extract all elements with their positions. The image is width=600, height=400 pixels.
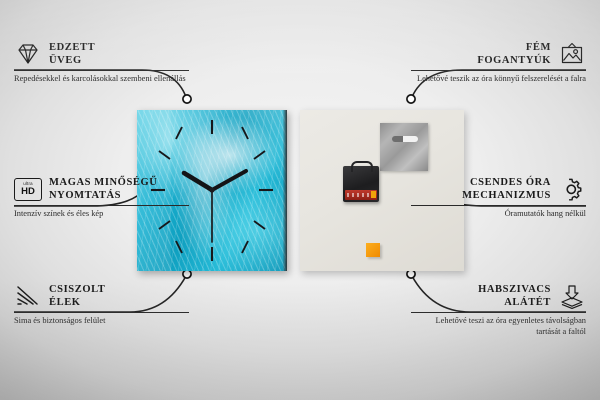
- feature-title-line2: ÜVEG: [49, 54, 95, 67]
- feature-divider: [411, 205, 586, 206]
- feature-title-line2: FOGANTYÚK: [477, 54, 551, 67]
- feature-divider: [14, 205, 189, 206]
- battery-terminal: [371, 191, 376, 198]
- connector-dot-polished-edges: [183, 270, 191, 278]
- feature-title-line1: MAGAS MINŐSÉGŰ: [49, 176, 157, 189]
- feature-divider: [14, 312, 189, 313]
- feature-foam-backing: HABSZIVACS ALÁTÉT Lehetővé teszi az óra …: [411, 283, 586, 337]
- connector-dot-foam: [407, 270, 415, 278]
- feature-description: Intenzív színek és éles kép: [14, 209, 189, 220]
- feature-divider: [411, 312, 586, 313]
- feature-title-line2: MECHANIZMUS: [462, 189, 551, 202]
- feature-title: HABSZIVACS ALÁTÉT: [478, 283, 551, 309]
- foam-pad-icon: [558, 284, 586, 309]
- feature-head: HABSZIVACS ALÁTÉT: [411, 283, 586, 309]
- feature-head: EDZETT ÜVEG: [14, 41, 189, 67]
- feature-title: CSENDES ÓRA MECHANIZMUS: [462, 176, 551, 202]
- feature-head: CSENDES ÓRA MECHANIZMUS: [411, 176, 586, 202]
- feature-title-line1: CSENDES ÓRA: [462, 176, 551, 189]
- feature-description: Sima és biztonságos felület: [14, 316, 189, 327]
- hanger-slot: [392, 136, 418, 142]
- polished-edges-icon: [14, 284, 42, 308]
- gear-icon: [558, 177, 586, 202]
- diamond-icon: [14, 42, 42, 66]
- feature-description: Óramutatók hang nélkül: [411, 209, 586, 220]
- feature-title: MAGAS MINŐSÉGŰ NYOMTATÁS: [49, 176, 157, 202]
- quartz-movement: [343, 166, 379, 202]
- feature-title-line1: EDZETT: [49, 41, 95, 54]
- feature-title-line2: NYOMTATÁS: [49, 189, 157, 202]
- feature-metal-handles: FÉM FOGANTYÚK Lehetővé teszik az óra kön…: [411, 41, 586, 85]
- feature-head: ultra HD MAGAS MINŐSÉGŰ NYOMTATÁS: [14, 176, 189, 202]
- movement-hanger-loop: [351, 161, 373, 172]
- battery-label-stripes: [347, 193, 369, 197]
- feature-title-line1: FÉM: [477, 41, 551, 54]
- feature-silent-mechanism: CSENDES ÓRA MECHANIZMUS Óramutatók hang …: [411, 176, 586, 220]
- feature-title: CSISZOLT ÉLEK: [49, 283, 105, 309]
- feature-polished-edges: CSISZOLT ÉLEK Sima és biztonságos felüle…: [14, 283, 189, 327]
- feature-head: FÉM FOGANTYÚK: [411, 41, 586, 67]
- glass-edge-shadow: [283, 110, 287, 271]
- feature-description: Lehetővé teszik az óra könnyű felszerelé…: [411, 74, 586, 85]
- connector-dot-metal-handles: [407, 95, 415, 103]
- feature-title: EDZETT ÜVEG: [49, 41, 95, 67]
- battery: [345, 190, 377, 200]
- feature-title-line1: CSISZOLT: [49, 283, 105, 296]
- hanger-plate: [380, 123, 428, 171]
- feature-description: Lehetővé teszi az óra egyenletes távolsá…: [411, 316, 586, 337]
- infographic-canvas: EDZETT ÜVEG Repedésekkel és karcolásokka…: [0, 0, 600, 400]
- feature-title-line2: ÉLEK: [49, 296, 105, 309]
- ultra-hd-icon: ultra HD: [14, 178, 42, 201]
- ultra-hd-big-text: HD: [21, 187, 35, 197]
- feature-title: FÉM FOGANTYÚK: [477, 41, 551, 67]
- picture-hanger-icon: [558, 42, 586, 67]
- feature-divider: [14, 70, 189, 71]
- feature-description: Repedésekkel és karcolásokkal szembeni e…: [14, 74, 189, 85]
- feature-title-line1: HABSZIVACS: [478, 283, 551, 296]
- feature-title-line2: ALÁTÉT: [478, 296, 551, 309]
- feature-tempered-glass: EDZETT ÜVEG Repedésekkel és karcolásokka…: [14, 41, 189, 85]
- foam-pad: [366, 243, 380, 257]
- feature-head: CSISZOLT ÉLEK: [14, 283, 189, 309]
- feature-divider: [411, 70, 586, 71]
- feature-high-quality-print: ultra HD MAGAS MINŐSÉGŰ NYOMTATÁS Intenz…: [14, 176, 189, 220]
- connector-dot-tempered-glass: [183, 95, 191, 103]
